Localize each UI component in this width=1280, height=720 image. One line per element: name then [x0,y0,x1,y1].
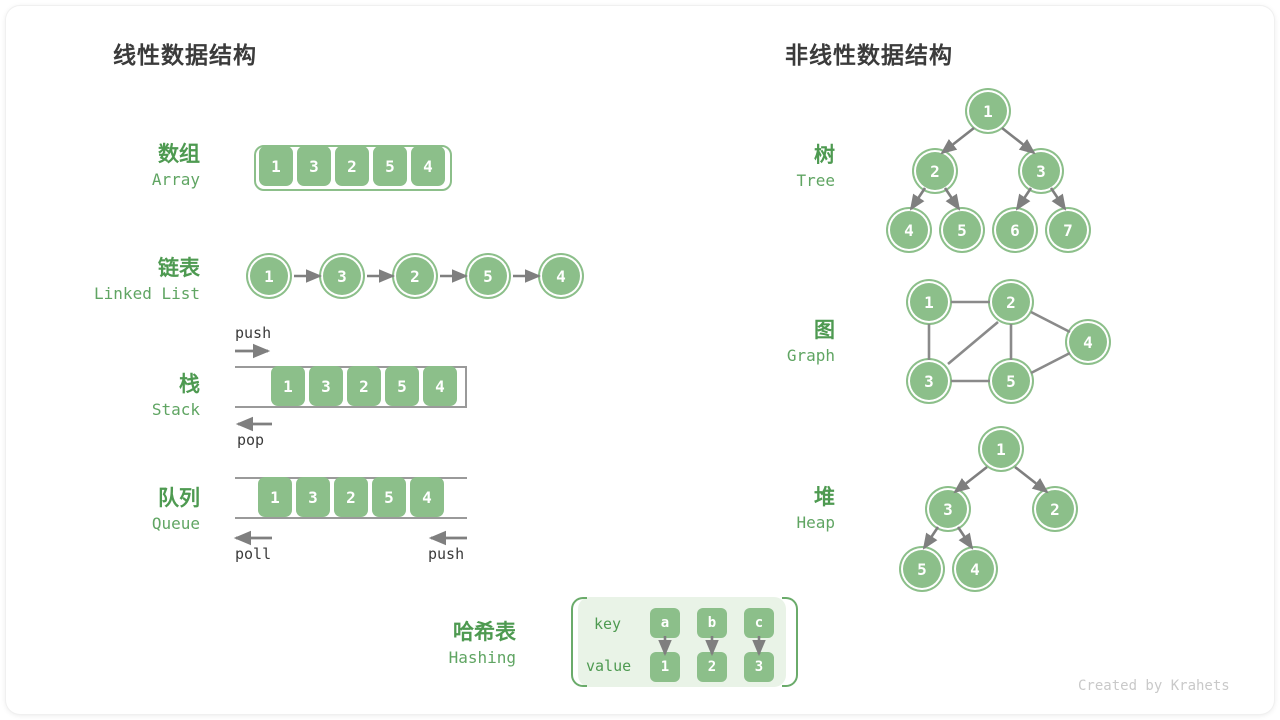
tree-node-6: 7 [1049,211,1087,249]
linked-list-node-0: 1 [250,257,288,295]
linked-list-label-cn: 链表 [10,256,200,282]
queue-rail-bottom [235,517,467,519]
heap-label-group: 堆 Heap [680,485,835,534]
stack-rail-right [465,366,467,408]
queue-cell-0: 1 [258,477,292,517]
hashing-key-cell-2: c [744,608,774,638]
queue-poll-label: poll [235,545,271,563]
stack-cell-1: 3 [309,366,343,406]
array-cell-1: 3 [297,146,331,186]
linked-list-node-1: 3 [323,257,361,295]
graph-node-4: 5 [992,362,1030,400]
queue-label-cn: 队列 [40,486,200,512]
graph-node-2: 3 [910,362,948,400]
heap-node-0: 1 [982,430,1020,468]
graph-label-en: Graph [680,344,835,367]
array-label-group: 数组 Array [40,142,200,191]
heap-node-2: 2 [1036,490,1074,528]
heap-node-1: 3 [929,490,967,528]
hashing-label-en: Hashing [350,646,516,669]
tree-node-5: 6 [996,211,1034,249]
nonlinear-section-title: 非线性数据结构 [785,36,953,70]
heap-node-3: 5 [903,550,941,588]
graph-label-group: 图 Graph [680,318,835,367]
tree-node-4: 5 [943,211,981,249]
hashing-key-cell-0: a [650,608,680,638]
queue-cell-2: 2 [334,477,368,517]
graph-node-3: 4 [1069,323,1107,361]
linear-section-title: 线性数据结构 [113,36,257,70]
linked-list-node-2: 2 [396,257,434,295]
hashing-label-group: 哈希表 Hashing [350,620,516,669]
linked-list-label-group: 链表 Linked List [10,256,200,305]
stack-label-en: Stack [40,398,200,421]
array-label-cn: 数组 [40,142,200,168]
hashing-key-label: key [594,615,621,633]
tree-node-3: 4 [890,211,928,249]
array-label-en: Array [40,168,200,191]
stack-push-label: push [235,324,271,342]
array-cell-3: 5 [373,146,407,186]
tree-node-1: 2 [916,152,954,190]
queue-cell-4: 4 [410,477,444,517]
linked-list-node-4: 4 [542,257,580,295]
graph-node-1: 2 [992,283,1030,321]
hashing-brace-right-icon [782,597,798,687]
hashing-value-cell-2: 3 [744,652,774,682]
linked-list-node-3: 5 [469,257,507,295]
queue-label-group: 队列 Queue [40,486,200,535]
hashing-key-cell-1: b [697,608,727,638]
heap-label-cn: 堆 [680,485,835,511]
tree-label-group: 树 Tree [680,143,835,192]
hashing-value-label: value [586,657,631,675]
tree-label-en: Tree [680,169,835,192]
queue-cell-3: 5 [372,477,406,517]
heap-label-en: Heap [680,511,835,534]
linked-list-label-en: Linked List [10,282,200,305]
queue-push-label: push [428,545,464,563]
tree-node-2: 3 [1022,152,1060,190]
queue-label-en: Queue [40,512,200,535]
graph-label-cn: 图 [680,318,835,344]
stack-label-group: 栈 Stack [40,372,200,421]
credit-text: Created by Krahets [1078,678,1230,694]
graph-node-0: 1 [910,283,948,321]
array-cell-2: 2 [335,146,369,186]
hashing-label-cn: 哈希表 [350,620,516,646]
stack-cell-0: 1 [271,366,305,406]
diagram-canvas: 线性数据结构 非线性数据结构 数组 Array 1 3 2 5 4 链表 Lin… [0,0,1280,720]
hashing-value-cell-1: 2 [697,652,727,682]
stack-pop-label: pop [237,431,264,449]
heap-node-4: 4 [956,550,994,588]
tree-node-0: 1 [969,92,1007,130]
stack-label-cn: 栈 [40,372,200,398]
array-cell-4: 4 [411,146,445,186]
tree-label-cn: 树 [680,143,835,169]
stack-cell-3: 5 [385,366,419,406]
hashing-value-cell-0: 1 [650,652,680,682]
queue-cell-1: 3 [296,477,330,517]
stack-cell-2: 2 [347,366,381,406]
stack-cell-4: 4 [423,366,457,406]
array-cell-0: 1 [259,146,293,186]
stack-rail-bottom [235,406,467,408]
hashing-brace-left-icon [571,597,587,687]
